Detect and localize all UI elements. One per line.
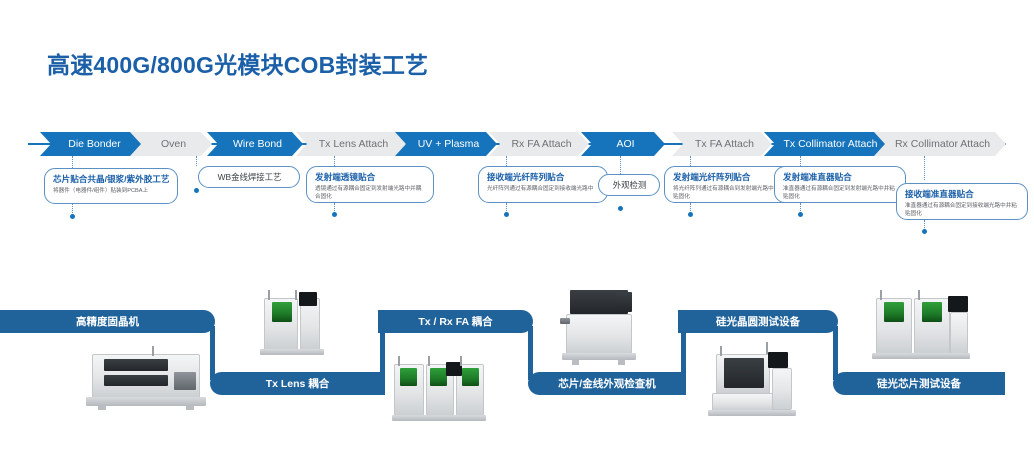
connector-dot-2 bbox=[194, 188, 199, 193]
page-title: 高速400G/800G光模块COB封装工艺 bbox=[47, 46, 428, 80]
flow-step-tx-lens-attach[interactable]: Tx Lens Attach bbox=[296, 132, 406, 156]
ribbon-segment-5: 硅光晶圆测试设备 bbox=[678, 310, 838, 333]
callout-title: WB金线焊接工艺 bbox=[218, 172, 282, 183]
flow-step-tx-fa-attach[interactable]: Tx FA Attach bbox=[672, 132, 772, 156]
machine-photo-tx-lens bbox=[258, 288, 334, 362]
machine-photo-chip-test bbox=[872, 288, 972, 368]
callout-tx-lens[interactable]: 发射端透镜贴合 透镜通过有源耦合固定到发射端光路中并耦合固化 bbox=[306, 166, 434, 203]
callout-sub: 透镜通过有源耦合固定到发射端光路中并耦合固化 bbox=[315, 185, 426, 201]
equipment-label-txrx-fa: Tx / Rx FA 耦合 bbox=[406, 314, 504, 329]
connector-line-3 bbox=[334, 156, 335, 166]
machine-photo-wafer-test bbox=[706, 340, 802, 418]
ribbon-rise-2 bbox=[380, 326, 385, 376]
connector-line-1 bbox=[72, 156, 73, 168]
connector-line-5 bbox=[620, 156, 621, 174]
equipment-label-aoi: 芯片/金线外观检查机 bbox=[546, 376, 667, 391]
machine-photo-txrx-fa bbox=[392, 354, 488, 428]
equipment-label-die-bonder: 高精度固晶机 bbox=[64, 314, 151, 329]
callout-title: 接收端光纤阵列贴合 bbox=[487, 172, 600, 183]
connector-line-6 bbox=[690, 156, 691, 166]
connector-dot-3 bbox=[332, 212, 337, 217]
callout-aoi[interactable]: 外观检测 bbox=[598, 174, 660, 196]
equipment-label-wafer-test: 硅光晶圆测试设备 bbox=[704, 314, 812, 329]
callout-sub: 将器件（电器件/组件）贴装到PCBA上 bbox=[53, 187, 170, 195]
callout-title: 发射端透镜贴合 bbox=[315, 172, 426, 183]
flow-step-rx-collimator[interactable]: Rx Collimator Attach bbox=[874, 132, 1006, 156]
connector-dot-8 bbox=[922, 229, 927, 234]
ribbon-segment-3: Tx / Rx FA 耦合 bbox=[378, 310, 533, 333]
flow-step-uv-plasma[interactable]: UV + Plasma bbox=[395, 132, 497, 156]
callout-die-bonder[interactable]: 芯片贴合共晶/银浆/紫外胶工艺 将器件（电器件/组件）贴装到PCBA上 bbox=[44, 168, 178, 204]
ribbon-segment-4: 芯片/金线外观检查机 bbox=[528, 372, 686, 395]
flow-step-tx-collimator[interactable]: Tx Collimator Attach bbox=[764, 132, 892, 156]
callout-title: 外观检测 bbox=[613, 180, 647, 191]
machine-photo-aoi bbox=[558, 288, 642, 370]
callout-sub: 准直器通过有源耦合固定到发射端光路中并粘贴固化 bbox=[783, 185, 898, 201]
ribbon-segment-2: Tx Lens 耦合 bbox=[210, 372, 385, 395]
flow-step-wire-bond[interactable]: Wire Bond bbox=[207, 132, 303, 156]
flow-step-oven[interactable]: Oven bbox=[130, 132, 212, 156]
connector-dot-5 bbox=[618, 206, 623, 211]
machine-photo-die-bonder bbox=[82, 350, 210, 410]
callout-title: 发射端光纤阵列贴合 bbox=[673, 172, 788, 183]
callout-tx-collimator[interactable]: 发射端准直器贴合 准直器通过有源耦合固定到发射端光路中并粘贴固化 bbox=[774, 166, 906, 203]
flow-step-rx-fa-attach[interactable]: Rx FA Attach bbox=[489, 132, 589, 156]
diagram-root: 高速400G/800G光模块COB封装工艺 Die Bonder Oven Wi… bbox=[0, 0, 1034, 475]
callout-rx-collimator[interactable]: 接收端准直器贴合 准直器通过有源耦合固定到接收端光路中并粘贴固化 bbox=[896, 183, 1028, 220]
callout-rx-fa[interactable]: 接收端光纤阵列贴合 光纤阵列通过有源耦合固定到接收端光路中 bbox=[478, 166, 608, 203]
connector-line-4 bbox=[506, 156, 507, 166]
ribbon-drop-1 bbox=[210, 326, 215, 380]
ribbon-segment-1: 高精度固晶机 bbox=[0, 310, 215, 333]
connector-line-2 bbox=[196, 156, 197, 166]
connector-dot-4 bbox=[504, 212, 509, 217]
connector-dot-1 bbox=[70, 214, 75, 219]
connector-line-7 bbox=[800, 156, 801, 166]
equipment-label-chip-test: 硅光芯片测试设备 bbox=[865, 376, 973, 391]
callout-title: 发射端准直器贴合 bbox=[783, 172, 898, 183]
equipment-label-tx-lens: Tx Lens 耦合 bbox=[254, 376, 342, 391]
callout-title: 接收端准直器贴合 bbox=[905, 189, 1020, 200]
callout-sub: 将光纤阵列通过有源耦合到发射端光路中并粘贴固化 bbox=[673, 185, 788, 201]
flow-step-aoi[interactable]: AOI bbox=[581, 132, 665, 156]
callout-title: 芯片贴合共晶/银浆/紫外胶工艺 bbox=[53, 174, 170, 185]
ribbon-drop-3 bbox=[528, 326, 533, 380]
process-flow-band: Die Bonder Oven Wire Bond Tx Lens Attach… bbox=[0, 132, 1034, 156]
flow-step-die-bonder[interactable]: Die Bonder bbox=[40, 132, 144, 156]
ribbon-drop-5 bbox=[833, 326, 838, 380]
callout-wire-bond[interactable]: WB金线焊接工艺 bbox=[198, 166, 300, 188]
connector-dot-7 bbox=[798, 212, 803, 217]
ribbon-rise-4 bbox=[681, 326, 686, 376]
connector-dot-6 bbox=[688, 212, 693, 217]
callout-sub: 光纤阵列通过有源耦合固定到接收端光路中 bbox=[487, 185, 600, 193]
callout-sub: 准直器通过有源耦合固定到接收端光路中并粘贴固化 bbox=[905, 202, 1020, 218]
connector-line-8 bbox=[924, 156, 925, 180]
ribbon-segment-6: 硅光芯片测试设备 bbox=[833, 372, 1005, 395]
